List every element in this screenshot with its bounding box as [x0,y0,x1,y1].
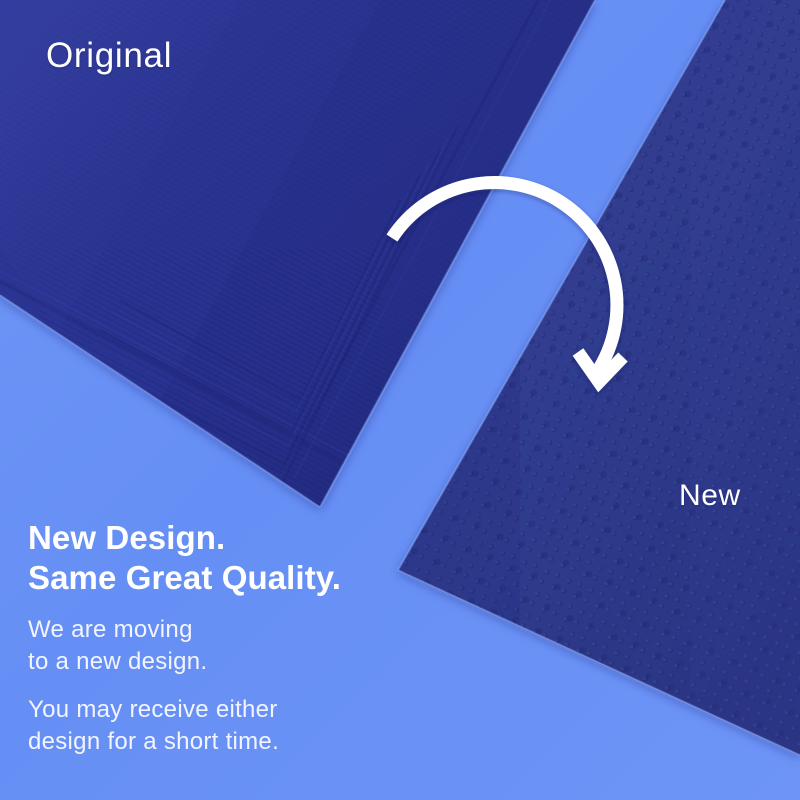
label-original: Original [46,35,172,77]
body-paragraph-1: We are moving to a new design. [28,614,458,678]
promo-image: Original New New Design. Same Great Qual… [0,0,800,800]
label-new: New [679,477,741,515]
headline-line-2: Same Great Quality. [28,558,458,598]
promo-copy-block: New Design. Same Great Quality. We are m… [28,518,458,758]
headline-line-1: New Design. [28,518,458,558]
body-paragraph-2: You may receive either design for a shor… [28,694,458,758]
